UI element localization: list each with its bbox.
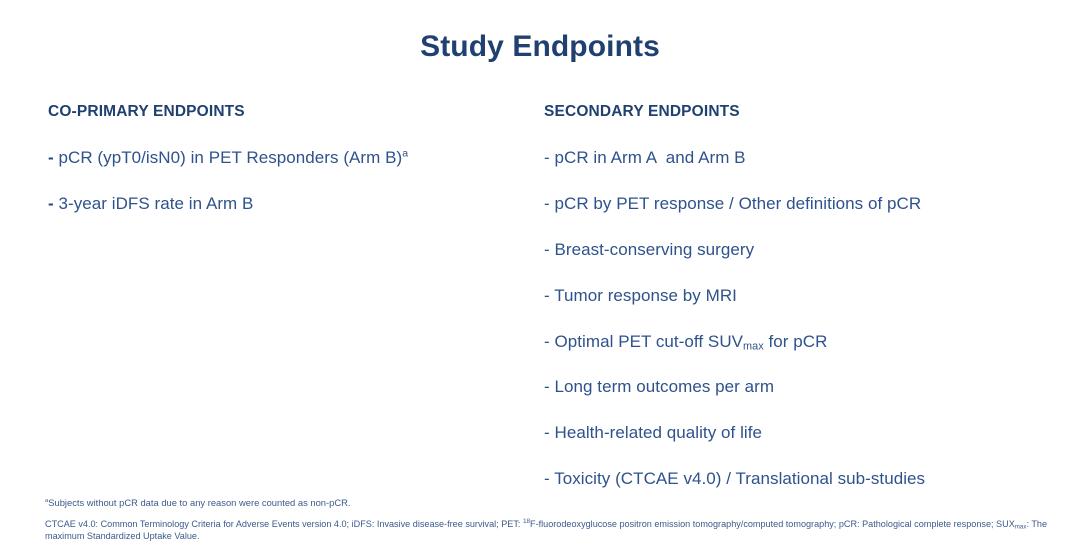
bullet-dash: - bbox=[544, 194, 550, 213]
bullet-dash: - bbox=[544, 148, 550, 167]
footnotes-block: aSubjects without pCR data due to any re… bbox=[45, 497, 1065, 542]
list-item-label: pCR (ypT0/isN0) in PET Responders (Arm B… bbox=[59, 148, 403, 167]
list-item-label: pCR in Arm A and Arm B bbox=[555, 148, 746, 167]
superscript-18: 18 bbox=[523, 518, 530, 525]
bullet-dash: - bbox=[544, 332, 550, 351]
list-item: - pCR in Arm A and Arm B bbox=[544, 148, 1044, 168]
footnote-abbr-part1: CTCAE v4.0: Common Terminology Criteria … bbox=[45, 519, 523, 529]
list-item-label: 3-year iDFS rate in Arm B bbox=[59, 194, 254, 213]
bullet-dash: - bbox=[48, 194, 54, 213]
subscript-max: max bbox=[1015, 523, 1027, 530]
co-primary-endpoints-column: CO-PRIMARY ENDPOINTS - pCR (ypT0/isN0) i… bbox=[48, 103, 518, 241]
list-item: - Optimal PET cut-off SUVmax for pCR bbox=[544, 332, 1044, 352]
list-item: - pCR by PET response / Other definition… bbox=[544, 194, 1044, 214]
list-item-label: Health-related quality of life bbox=[555, 423, 763, 442]
secondary-endpoints-header: SECONDARY ENDPOINTS bbox=[544, 103, 1044, 121]
list-item-label: pCR by PET response / Other definitions … bbox=[555, 194, 922, 213]
footnote-abbr-part2: F-fluorodeoxyglucose positron emission t… bbox=[530, 519, 1015, 529]
bullet-dash: - bbox=[544, 469, 550, 488]
bullet-dash: - bbox=[544, 286, 550, 305]
list-item: - Health-related quality of life bbox=[544, 423, 1044, 443]
list-item-label: Long term outcomes per arm bbox=[555, 377, 775, 396]
bullet-dash: - bbox=[544, 377, 550, 396]
bullet-dash: - bbox=[544, 240, 550, 259]
list-item: - Tumor response by MRI bbox=[544, 286, 1044, 306]
secondary-endpoints-column: SECONDARY ENDPOINTS - pCR in Arm A and A… bbox=[544, 103, 1044, 515]
subscript-max: max bbox=[743, 340, 764, 352]
list-item-label: Breast-conserving surgery bbox=[555, 240, 755, 259]
bullet-dash: - bbox=[544, 423, 550, 442]
slide-canvas: Study Endpoints CO-PRIMARY ENDPOINTS - p… bbox=[0, 0, 1080, 553]
footnote-marker-a: a bbox=[402, 147, 408, 159]
list-item: - 3-year iDFS rate in Arm B bbox=[48, 194, 518, 214]
co-primary-endpoints-header: CO-PRIMARY ENDPOINTS bbox=[48, 103, 518, 121]
list-item: - Long term outcomes per arm bbox=[544, 377, 1044, 397]
footnote-abbreviations: CTCAE v4.0: Common Terminology Criteria … bbox=[45, 518, 1060, 542]
list-item: - pCR (ypT0/isN0) in PET Responders (Arm… bbox=[48, 148, 518, 168]
list-item-label: Tumor response by MRI bbox=[554, 286, 737, 305]
page-title: Study Endpoints bbox=[0, 30, 1080, 64]
bullet-dash: - bbox=[48, 148, 54, 167]
list-item: - Breast-conserving surgery bbox=[544, 240, 1044, 260]
list-item: - Toxicity (CTCAE v4.0) / Translational … bbox=[544, 469, 1044, 489]
footnote-text: Subjects without pCR data due to any rea… bbox=[48, 497, 350, 508]
list-item-label: Toxicity (CTCAE v4.0) / Translational su… bbox=[554, 469, 925, 488]
list-item-label-suffix: for pCR bbox=[764, 332, 828, 351]
footnote-subjects-note: aSubjects without pCR data due to any re… bbox=[45, 497, 1065, 509]
list-item-label: Optimal PET cut-off SUV bbox=[555, 332, 744, 351]
